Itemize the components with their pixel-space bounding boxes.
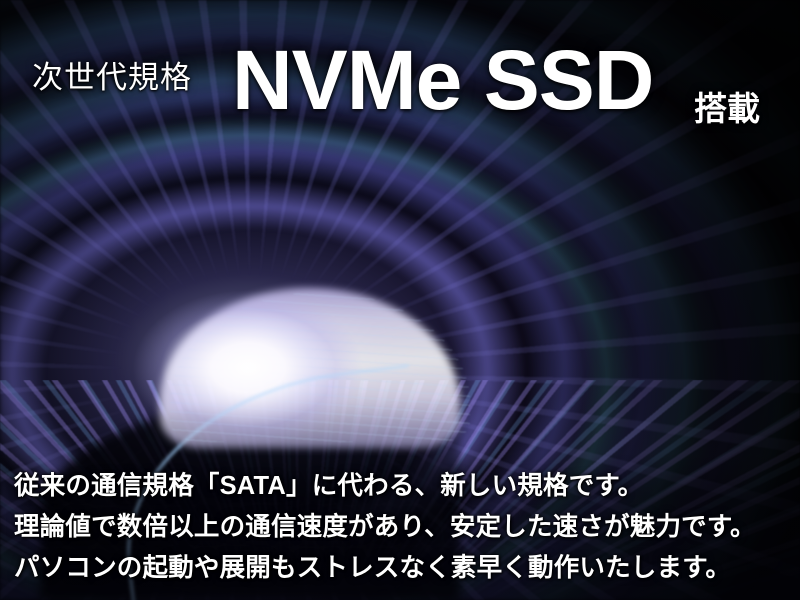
background-tunnel-mouth bbox=[160, 288, 460, 448]
caption-line: 理論値で数倍以上の通信速度があり、安定した速さが魅力です。 bbox=[14, 507, 794, 548]
caption-line: 従来の通信規格「SATA」に代わる、新しい規格です。 bbox=[14, 466, 794, 507]
nvme-ssd-banner: 次世代規格 NVMe SSD 搭載 従来の通信規格「SATA」に代わる、新しい規… bbox=[0, 0, 800, 600]
banner-caption: 従来の通信規格「SATA」に代わる、新しい規格です。 理論値で数倍以上の通信速度… bbox=[14, 466, 794, 589]
caption-line: パソコンの起動や展開もストレスなく素早く動作いたします。 bbox=[14, 548, 794, 589]
background-light-striations bbox=[170, 292, 470, 442]
banner-kicker: 次世代規格 bbox=[32, 52, 192, 97]
banner-headline: NVMe SSD bbox=[232, 38, 653, 122]
banner-headline-suffix: 搭載 bbox=[694, 82, 760, 130]
